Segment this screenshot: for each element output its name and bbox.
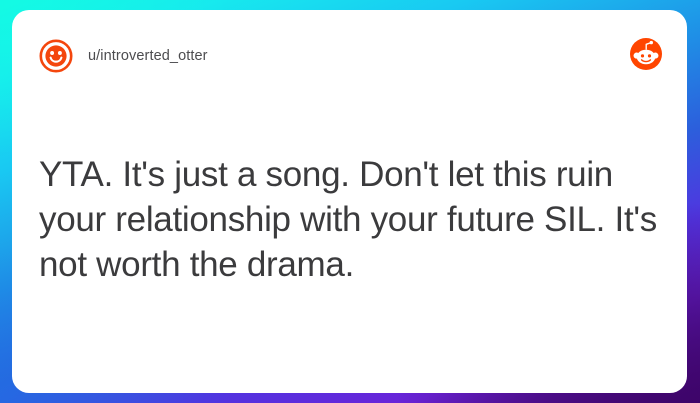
post-text: YTA. It's just a song. Don't let this ru…	[39, 152, 657, 287]
smiley-face-avatar-icon[interactable]	[38, 38, 74, 74]
card-body: YTA. It's just a song. Don't let this ru…	[39, 152, 657, 287]
reddit-snoo-logo-icon[interactable]	[629, 37, 663, 71]
reddit-comment-card: u/introverted_otter	[12, 10, 687, 393]
screenshot-root: u/introverted_otter	[0, 0, 700, 403]
username-label: u/introverted_otter	[88, 48, 208, 64]
card-header: u/introverted_otter	[12, 10, 687, 96]
